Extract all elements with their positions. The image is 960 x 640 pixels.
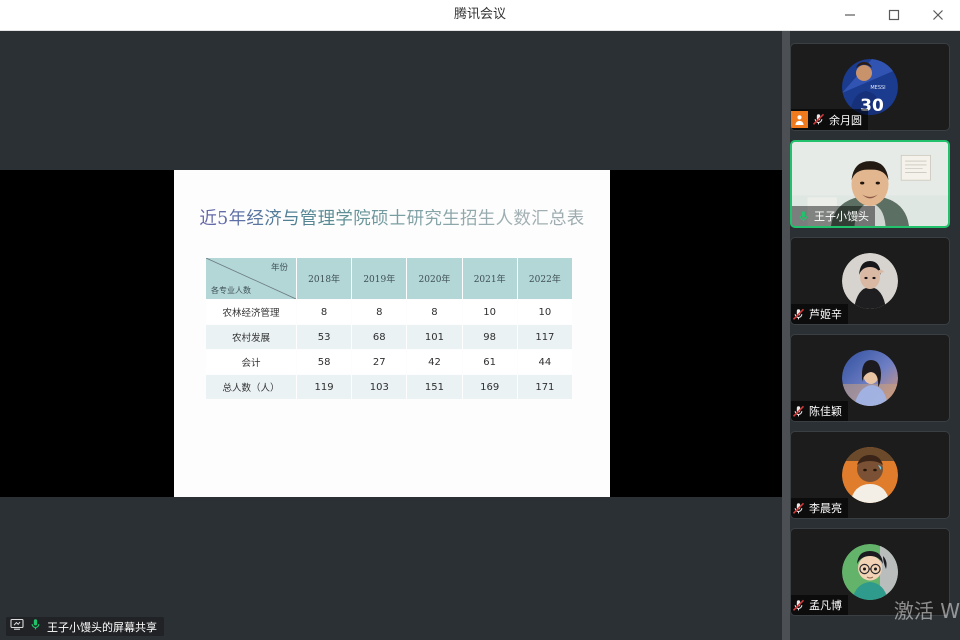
corner-label-major: 各专业人数 <box>211 285 251 296</box>
table-row: 农村发展 53 68 101 98 117 <box>206 325 572 349</box>
table-cell: 42 <box>407 350 461 374</box>
table-cell: 27 <box>352 350 406 374</box>
column-header: 2018年 <box>297 258 351 299</box>
host-badge <box>791 111 808 128</box>
close-icon[interactable] <box>916 0 960 30</box>
table-cell: 58 <box>297 350 351 374</box>
table-cell: 8 <box>407 300 461 324</box>
maximize-icon[interactable] <box>872 0 916 30</box>
table-cell: 101 <box>407 325 461 349</box>
table-cell: 151 <box>407 375 461 399</box>
participant-tile[interactable]: 李晨亮 <box>790 431 950 519</box>
participant-name: 余月圆 <box>829 112 862 128</box>
row-label: 会计 <box>206 350 296 374</box>
participant-name: 芦姬辛 <box>809 306 842 322</box>
table-header-row: 年份 各专业人数 2018年 2019年 2020年 2021年 2022年 <box>206 258 572 299</box>
participant-namebar: 王子小馒头 <box>792 206 875 226</box>
tencent-meeting-window: 腾讯会议 近5年经济与管理学院硕士研究生招生人数汇总表 <box>0 0 960 640</box>
column-header: 2022年 <box>518 258 572 299</box>
table-cell: 8 <box>352 300 406 324</box>
participant-tile[interactable]: 30 MESSI <box>790 43 950 131</box>
table-cell: 119 <box>297 375 351 399</box>
microphone-on-icon <box>29 618 42 636</box>
screen-share-indicator[interactable]: 王子小馒头的屏幕共享 <box>6 617 164 636</box>
avatar <box>842 447 898 503</box>
participant-tile[interactable]: 芦姬辛 <box>790 237 950 325</box>
table-cell: 169 <box>463 375 517 399</box>
column-header: 2021年 <box>463 258 517 299</box>
microphone-muted-icon <box>791 598 806 613</box>
microphone-muted-icon <box>791 404 806 419</box>
shared-screen-stage[interactable]: 近5年经济与管理学院硕士研究生招生人数汇总表 年份 各专业人数 <box>0 31 782 616</box>
avatar <box>842 253 898 309</box>
avatar: 30 MESSI <box>842 59 898 115</box>
row-label: 农村发展 <box>206 325 296 349</box>
participant-name: 陈佳颖 <box>809 403 842 419</box>
table-cell: 68 <box>352 325 406 349</box>
table-cell: 10 <box>518 300 572 324</box>
minimize-icon[interactable] <box>828 0 872 30</box>
participant-tile[interactable]: 孟凡博 <box>790 528 950 616</box>
column-header: 2020年 <box>407 258 461 299</box>
microphone-muted-icon <box>791 307 806 322</box>
corner-label-year: 年份 <box>271 261 288 273</box>
microphone-muted-icon <box>811 112 826 127</box>
table-row: 总人数（人） 119 103 151 169 171 <box>206 375 572 399</box>
table-cell: 10 <box>463 300 517 324</box>
table-cell: 117 <box>518 325 572 349</box>
svg-text:MESSI: MESSI <box>870 85 885 91</box>
table-cell: 98 <box>463 325 517 349</box>
microphone-on-icon <box>796 209 811 224</box>
shared-slide: 近5年经济与管理学院硕士研究生招生人数汇总表 年份 各专业人数 <box>174 170 610 497</box>
window-titlebar: 腾讯会议 <box>0 0 960 31</box>
table-cell: 61 <box>463 350 517 374</box>
table-row: 会计 58 27 42 61 44 <box>206 350 572 374</box>
slide-title: 近5年经济与管理学院硕士研究生招生人数汇总表 <box>174 205 610 230</box>
participant-name: 李晨亮 <box>809 500 842 516</box>
participant-tile[interactable]: 王子小馒头 <box>790 140 950 228</box>
avatar <box>842 544 898 600</box>
participant-tile[interactable]: 陈佳颖 <box>790 334 950 422</box>
participant-rail[interactable]: 30 MESSI <box>790 31 960 640</box>
table-row: 农林经济管理 8 8 8 10 10 <box>206 300 572 324</box>
row-label: 总人数（人） <box>206 375 296 399</box>
table-cell: 44 <box>518 350 572 374</box>
screen-share-label: 王子小馒头的屏幕共享 <box>47 619 157 635</box>
window-title: 腾讯会议 <box>0 0 960 30</box>
participant-namebar: 陈佳颖 <box>791 401 848 421</box>
screen-share-icon <box>10 617 24 636</box>
participant-name: 王子小馒头 <box>814 208 869 224</box>
microphone-muted-icon <box>791 501 806 516</box>
table-cell: 53 <box>297 325 351 349</box>
table-corner-cell: 年份 各专业人数 <box>206 258 296 299</box>
window-controls <box>828 0 960 30</box>
participant-namebar: 余月圆 <box>791 109 868 130</box>
participant-name: 孟凡博 <box>809 597 842 613</box>
table-cell: 8 <box>297 300 351 324</box>
participant-namebar: 孟凡博 <box>791 595 848 615</box>
participant-namebar: 芦姬辛 <box>791 304 848 324</box>
admissions-summary-table: 年份 各专业人数 2018年 2019年 2020年 2021年 2022年 农… <box>205 257 573 400</box>
bottom-status-bar: 王子小馒头的屏幕共享 <box>0 616 782 640</box>
participant-namebar: 李晨亮 <box>791 498 848 518</box>
avatar <box>842 350 898 406</box>
column-header: 2019年 <box>352 258 406 299</box>
table-cell: 103 <box>352 375 406 399</box>
table-cell: 171 <box>518 375 572 399</box>
row-label: 农林经济管理 <box>206 300 296 324</box>
panel-divider[interactable] <box>782 31 790 640</box>
